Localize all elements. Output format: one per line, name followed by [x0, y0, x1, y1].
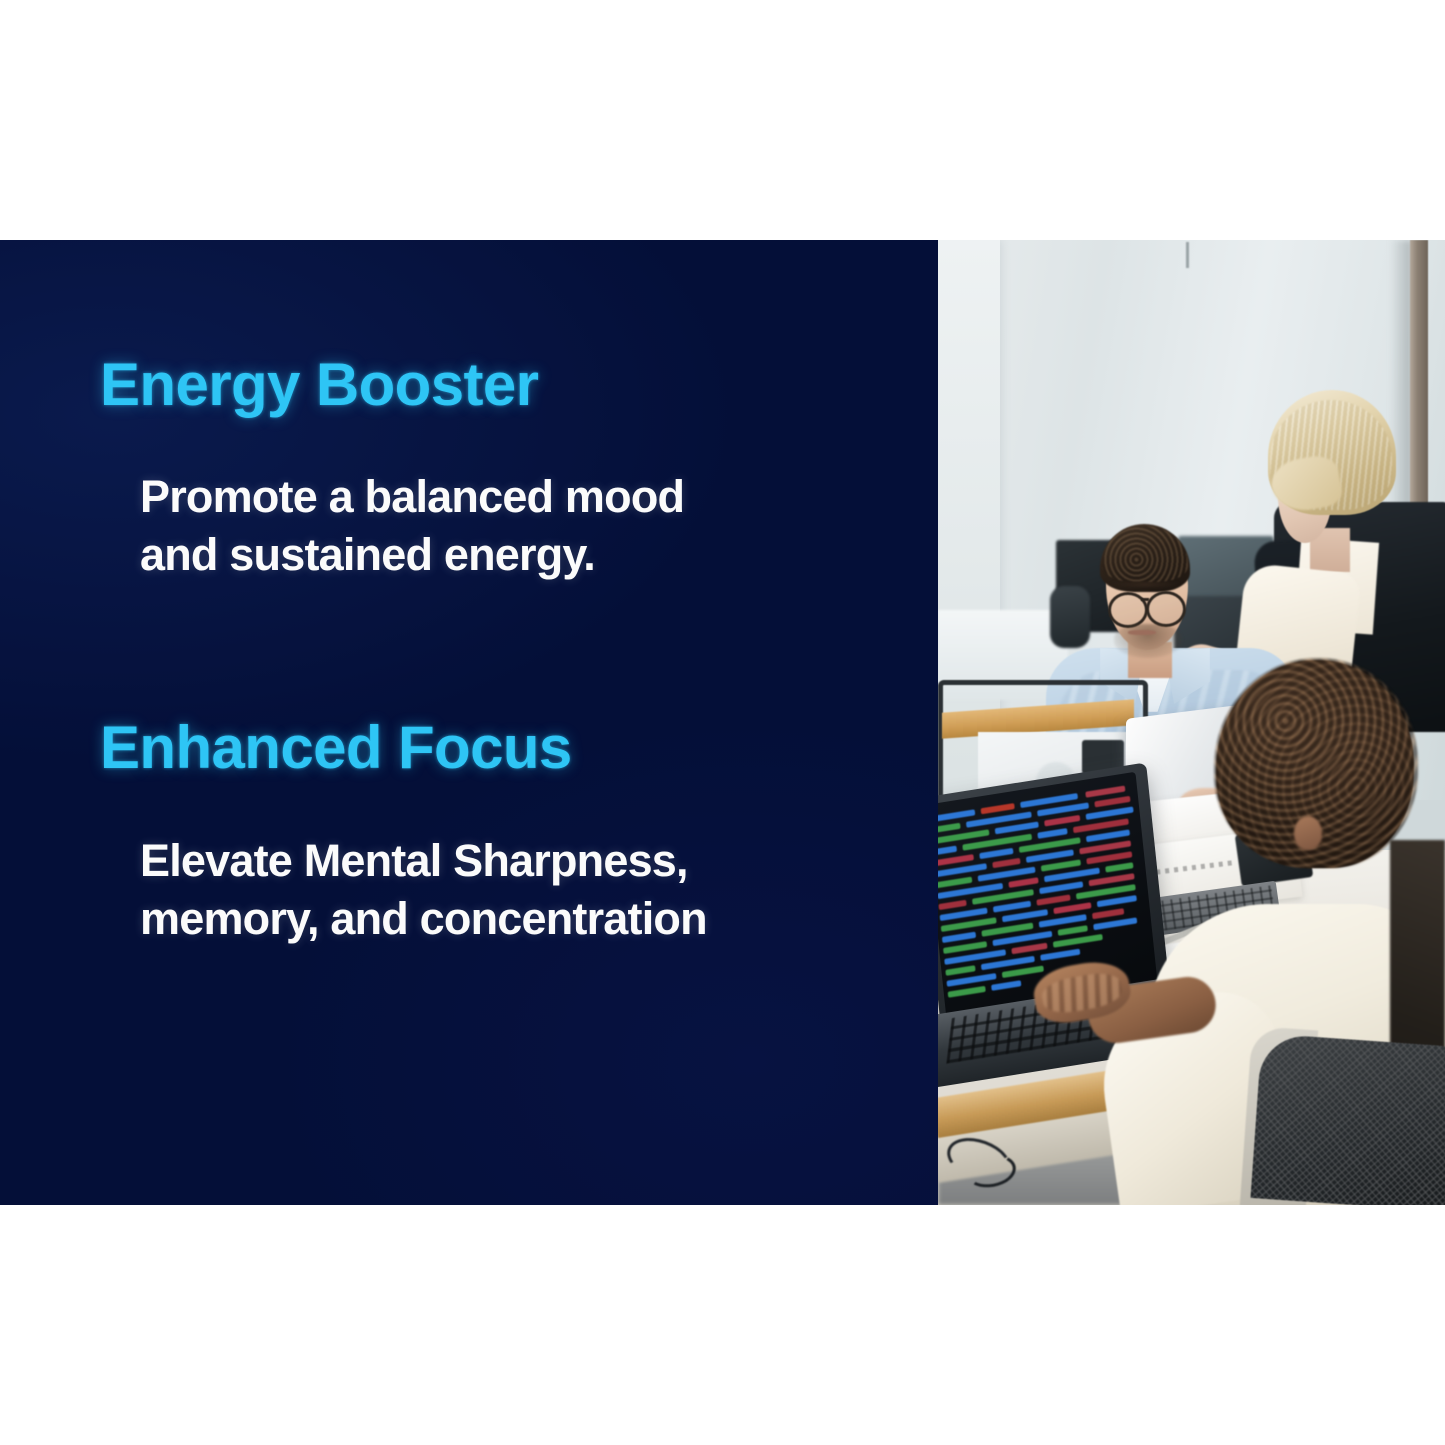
background-chair-arm [1050, 586, 1090, 648]
code-line [938, 900, 966, 910]
code-line [943, 941, 987, 954]
code-line [1058, 925, 1088, 936]
office-chair-mesh-back [1250, 1033, 1445, 1205]
code-line [1036, 894, 1070, 905]
foreground-woman-ear [1294, 816, 1322, 850]
code-line [948, 986, 986, 998]
code-line [1094, 796, 1130, 808]
feature-1-body-line-2: and sustained energy. [140, 526, 684, 584]
code-line [1037, 828, 1067, 839]
eyeglasses-right-lens-icon [1146, 591, 1186, 627]
code-line [993, 901, 1031, 913]
feature-text-panel: Energy Booster Promote a balanced mood a… [0, 240, 938, 1205]
code-line [1053, 902, 1091, 914]
ceiling-hook [1186, 242, 1189, 268]
code-line [991, 980, 1021, 991]
feature-2-body: Elevate Mental Sharpness, memory, and co… [140, 832, 707, 947]
code-line [1097, 895, 1137, 907]
code-line [1040, 949, 1080, 961]
code-line [1092, 908, 1124, 919]
code-line [938, 823, 961, 834]
code-line [1105, 862, 1133, 872]
code-line [1008, 877, 1038, 888]
code-line [938, 854, 974, 866]
promo-slide: Energy Booster Promote a balanced mood a… [0, 240, 1445, 1205]
code-line [938, 846, 957, 856]
code-line [979, 848, 1013, 859]
feature-1-body-line-1: Promote a balanced mood [140, 468, 684, 526]
code-line [981, 803, 1015, 814]
code-line [995, 822, 1039, 835]
feature-2-body-line-2: memory, and concentration [140, 890, 707, 948]
code-line [1053, 934, 1103, 948]
code-line [942, 932, 976, 943]
code-line [992, 858, 1020, 868]
code-line [946, 973, 996, 987]
code-line [1037, 802, 1089, 816]
feature-1-heading: Energy Booster [100, 355, 538, 415]
feature-1-body: Promote a balanced mood and sustained en… [140, 468, 684, 583]
eyeglasses-bridge [1141, 598, 1149, 601]
feature-2-heading: Enhanced Focus [100, 718, 572, 778]
code-line [1002, 965, 1044, 978]
code-line [1011, 943, 1047, 955]
code-line [1093, 917, 1137, 930]
code-line [938, 877, 972, 889]
code-line [945, 965, 975, 976]
seated-man-mouth [1128, 630, 1156, 635]
code-line [1085, 786, 1125, 798]
seated-man-eyebrows [1110, 582, 1180, 587]
feature-2-body-line-1: Elevate Mental Sharpness, [140, 832, 707, 890]
office-team-photo [938, 240, 1445, 1205]
code-line [1041, 859, 1081, 871]
code-line [1044, 815, 1080, 827]
